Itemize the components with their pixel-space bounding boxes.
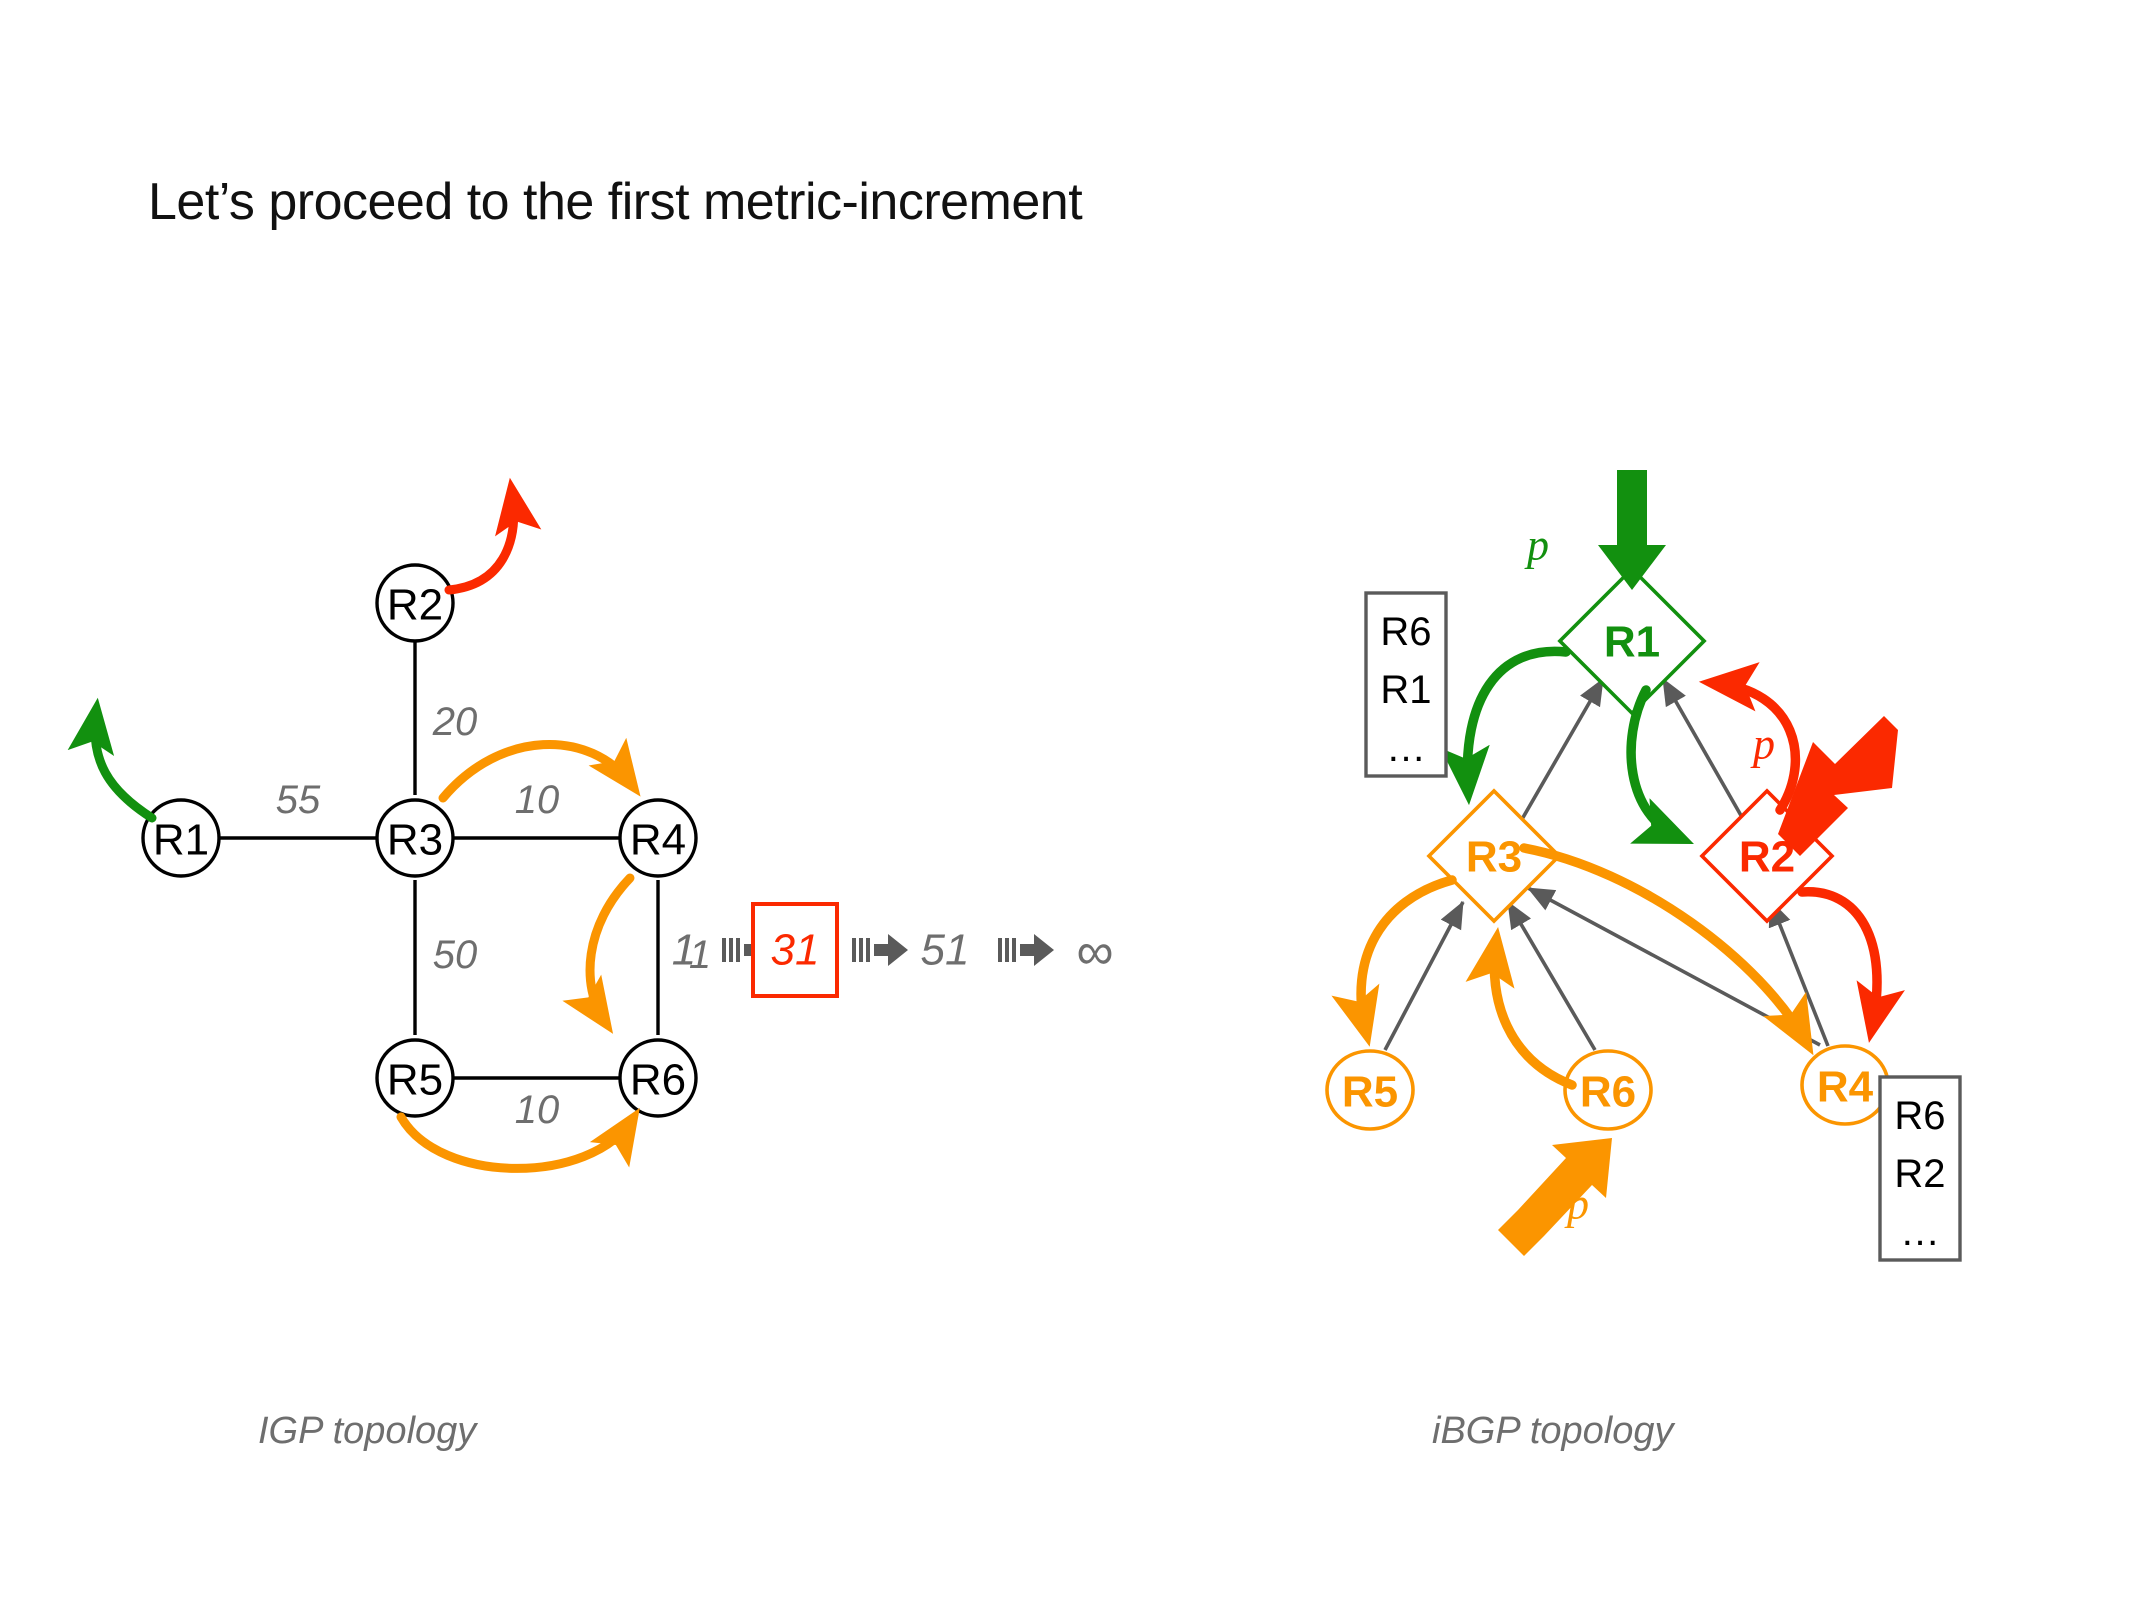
rib-box-right-line-0: R6 xyxy=(1894,1094,1945,1138)
igp-arrow-orange-r3-r4 xyxy=(443,744,632,798)
igp-arrow-orange-r5-r6 xyxy=(401,1117,632,1168)
fat-arrow-right-icon-1 xyxy=(722,934,778,966)
igp-caption: IGP topology xyxy=(258,1410,476,1453)
igp-weight-r4-r6: 1 xyxy=(689,933,711,977)
igp-weight-r2-r3: 20 xyxy=(432,700,478,744)
igp-weight-r5-r6: 10 xyxy=(515,1088,560,1132)
ibgp-arrow-orange-r3-r4 xyxy=(1524,848,1806,1042)
prefix-label-red: p xyxy=(1750,720,1775,769)
page-title: Let’s proceed to the first metric-increm… xyxy=(148,172,1082,232)
ibgp-arrow-orange-r3-r5 xyxy=(1361,880,1452,1032)
ibgp-node-r4[interactable]: R4 xyxy=(1802,1046,1888,1124)
igp-weight-r3-r4: 10 xyxy=(515,778,560,822)
ibgp-arrow-orange-r6-r3 xyxy=(1494,942,1572,1085)
rib-box-right-line-1: R2 xyxy=(1894,1152,1945,1196)
igp-node-r3-label: R3 xyxy=(387,816,443,865)
igp-node-r4-label: R4 xyxy=(630,816,686,865)
ibgp-arrow-green-r1-r2 xyxy=(1631,690,1680,838)
igp-node-r5[interactable]: R5 xyxy=(377,1040,453,1116)
metric-step-0: 1 xyxy=(672,926,696,975)
prefix-arrow-orange-into-r6 xyxy=(1498,1138,1612,1256)
igp-topology-diagram: R1 R2 R3 R4 R5 R6 55 20 10 50 1 10 xyxy=(0,0,2134,1600)
metric-highlight-box xyxy=(753,904,837,996)
ibgp-node-r2-label: R2 xyxy=(1739,833,1795,882)
ibgp-node-r1[interactable]: R1 xyxy=(1560,569,1704,713)
ibgp-session-r6-r3 xyxy=(1508,902,1595,1050)
rib-box-left-line-1: R1 xyxy=(1380,668,1431,712)
ibgp-session-r4-r2 xyxy=(1770,900,1828,1046)
igp-node-r6-label: R6 xyxy=(630,1056,686,1105)
ibgp-node-r5[interactable]: R5 xyxy=(1327,1051,1413,1129)
ibgp-node-r5-label: R5 xyxy=(1342,1068,1398,1117)
metric-step-3: ∞ xyxy=(1076,923,1113,981)
prefix-arrow-red-into-r2 xyxy=(1778,716,1898,856)
prefix-label-green: p xyxy=(1524,521,1549,570)
rib-box-right-line-2: … xyxy=(1900,1210,1940,1254)
ibgp-caption: iBGP topology xyxy=(1432,1410,1674,1453)
igp-node-r1-label: R1 xyxy=(153,816,209,865)
igp-node-r1[interactable]: R1 xyxy=(143,800,219,876)
ibgp-topology-diagram: R1 R2 R3 R4 R5 R6 xyxy=(0,0,2134,1600)
igp-weight-r3-r5: 50 xyxy=(433,933,478,977)
metric-step-1: 31 xyxy=(771,926,820,975)
rib-box-left-line-0: R6 xyxy=(1380,610,1431,654)
rib-box-right[interactable]: R6 R2 … xyxy=(1880,1077,1960,1260)
fat-arrow-right-icon-2 xyxy=(852,934,908,966)
igp-arrow-orange-r4-r6 xyxy=(590,878,630,1022)
ibgp-session-r3-r1 xyxy=(1510,679,1603,840)
slide-canvas: Let’s proceed to the first metric-increm… xyxy=(0,0,2134,1600)
rib-box-left[interactable]: R6 R1 … xyxy=(1366,593,1446,776)
ibgp-node-r3-label: R3 xyxy=(1466,833,1522,882)
igp-edges xyxy=(216,640,658,1078)
ibgp-arrow-red-r2-r1 xyxy=(1714,683,1795,810)
igp-node-r2[interactable]: R2 xyxy=(377,565,453,641)
ibgp-node-r6[interactable]: R6 xyxy=(1565,1051,1651,1129)
prefix-arrow-green-into-r1 xyxy=(1598,470,1666,590)
igp-arrow-red-r2 xyxy=(449,492,514,590)
igp-node-r5-label: R5 xyxy=(387,1056,443,1105)
ibgp-arrow-green-r1-r3 xyxy=(1467,651,1566,790)
ibgp-session-r5-r3 xyxy=(1385,902,1463,1050)
ibgp-node-r1-label: R1 xyxy=(1604,618,1660,667)
igp-weight-r1-r3: 55 xyxy=(276,778,321,822)
ibgp-session-r2-r1 xyxy=(1663,679,1755,840)
ibgp-node-r2[interactable]: R2 xyxy=(1702,791,1832,921)
prefix-label-orange: p xyxy=(1564,1180,1589,1229)
ibgp-sessions xyxy=(1385,679,1828,1050)
igp-node-r6[interactable]: R6 xyxy=(620,1040,696,1116)
igp-node-r3[interactable]: R3 xyxy=(377,800,453,876)
ibgp-arrow-red-r2-r4 xyxy=(1802,892,1877,1028)
ibgp-session-r4-r3 xyxy=(1528,888,1820,1045)
rib-box-left-line-2: … xyxy=(1386,726,1426,770)
igp-arrow-green-r1 xyxy=(95,712,152,818)
igp-node-r4[interactable]: R4 xyxy=(620,800,696,876)
igp-node-r2-label: R2 xyxy=(387,581,443,630)
ibgp-node-r6-label: R6 xyxy=(1580,1068,1636,1117)
ibgp-node-r3[interactable]: R3 xyxy=(1429,791,1559,921)
fat-arrow-right-icon-3 xyxy=(998,934,1054,966)
ibgp-node-r4-label: R4 xyxy=(1817,1063,1874,1112)
metric-step-2: 51 xyxy=(921,926,970,975)
metric-sequence: 1 31 51 ∞ xyxy=(672,904,1114,996)
